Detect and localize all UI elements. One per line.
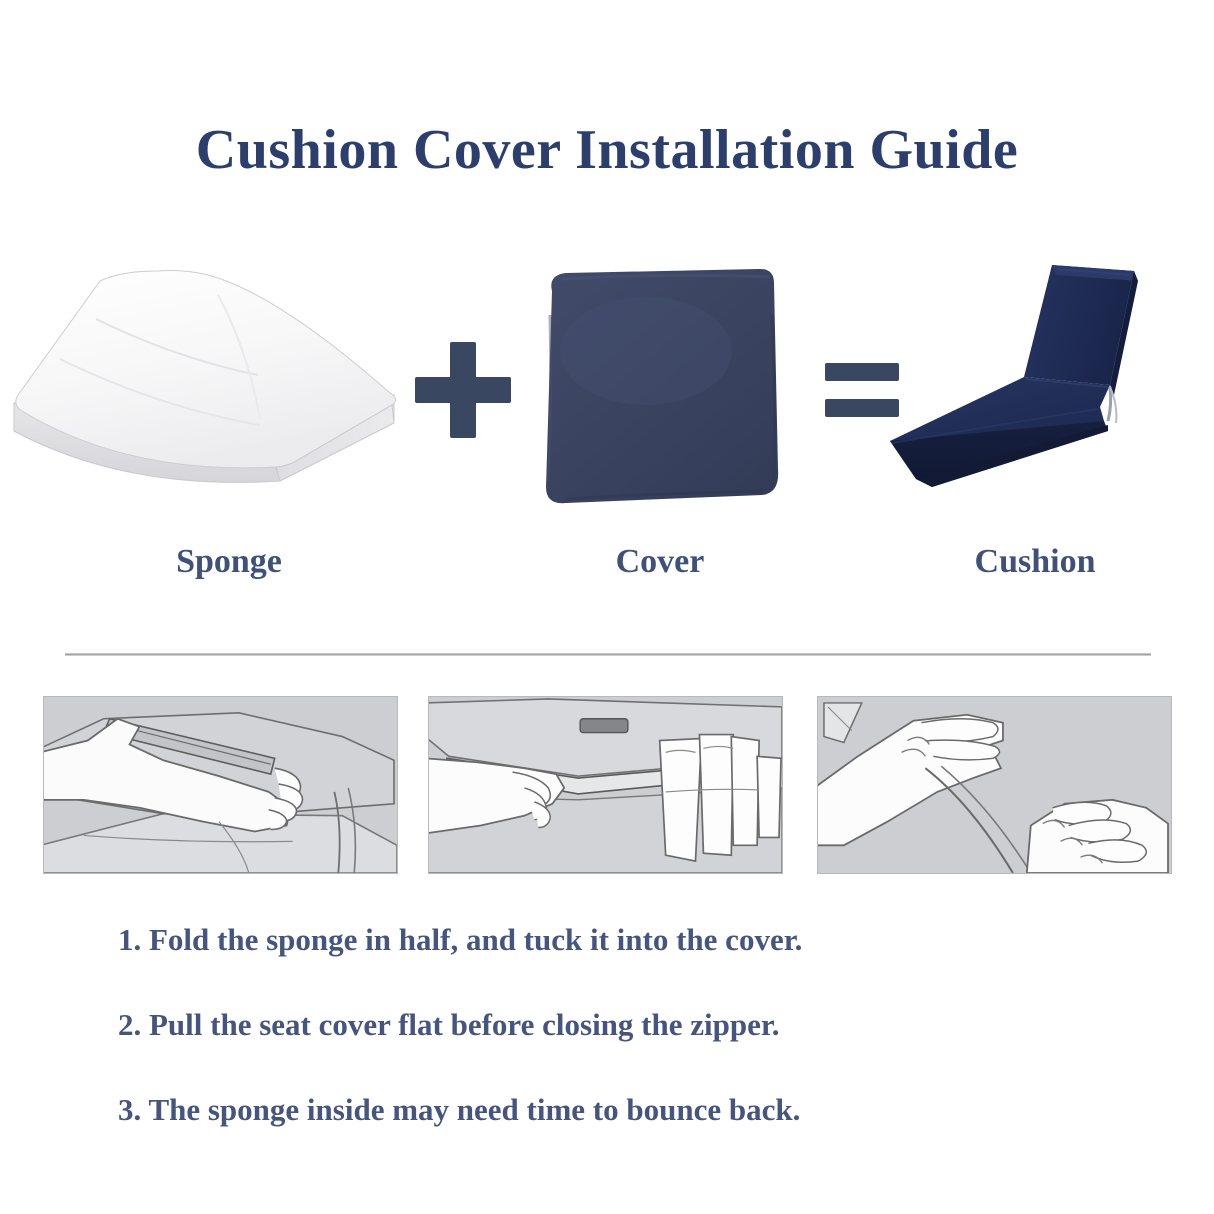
cover-label: Cover: [510, 543, 810, 581]
cushion-image: [872, 255, 1206, 525]
cover-item: [522, 255, 804, 525]
sponge-label: Sponge: [79, 543, 379, 581]
cushion-item: [872, 255, 1206, 525]
step-panel-3: [817, 696, 1172, 874]
sponge-image: [8, 255, 400, 525]
instruction-list: 1. Fold the sponge in half, and tuck it …: [118, 918, 1118, 1173]
page-title: Cushion Cover Installation Guide: [0, 118, 1214, 182]
plus-operator: [404, 255, 522, 525]
step-photo-panels: [0, 696, 1214, 876]
equation-row: [0, 255, 1214, 525]
section-divider: [65, 653, 1151, 656]
plus-icon: [415, 342, 511, 438]
step-panel-1: [43, 696, 398, 874]
step-panel-2: [428, 696, 783, 874]
sponge-item: [8, 255, 400, 525]
instruction-1: 1. Fold the sponge in half, and tuck it …: [118, 918, 1118, 1003]
instruction-2: 2. Pull the seat cover flat before closi…: [118, 1003, 1118, 1088]
cover-image: [522, 255, 804, 525]
cushion-label: Cushion: [885, 543, 1185, 581]
instruction-3: 3. The sponge inside may need time to bo…: [118, 1088, 1118, 1173]
